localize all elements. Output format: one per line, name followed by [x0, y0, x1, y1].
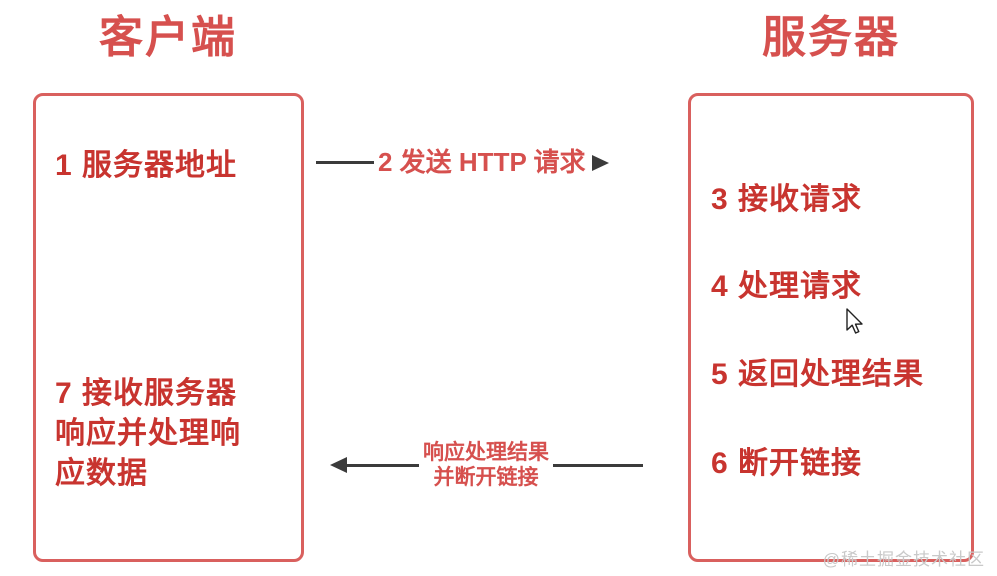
arrow-head-right-icon	[592, 155, 609, 171]
server-column-title: 服务器	[688, 16, 974, 60]
server-step-6: 6 断开链接	[711, 444, 862, 484]
request-arrow-label: 2 发送 HTTP 请求	[374, 148, 590, 178]
request-arrow: 2 发送 HTTP 请求	[316, 148, 688, 178]
request-arrow-line	[316, 161, 374, 164]
server-step-4: 4 处理请求	[711, 267, 862, 307]
server-step-3: 3 接收请求	[711, 180, 862, 220]
response-arrow-line-right	[553, 464, 643, 467]
arrow-head-left-icon	[330, 457, 347, 473]
response-arrow-line-left	[347, 464, 419, 467]
mouse-cursor-icon	[845, 308, 865, 336]
client-box: 1 服务器地址 7 接收服务器 响应并处理响 应数据	[33, 93, 304, 562]
response-arrow: 响应处理结果 并断开链接	[330, 440, 688, 490]
server-box: 3 接收请求 4 处理请求 5 返回处理结果 6 断开链接	[688, 93, 974, 562]
response-arrow-label: 响应处理结果 并断开链接	[419, 440, 553, 490]
client-step-1: 1 服务器地址	[55, 146, 237, 186]
watermark: @稀土掘金技术社区	[823, 545, 985, 570]
client-column-title: 客户端	[33, 16, 303, 60]
diagram-canvas: 客户端 服务器 1 服务器地址 7 接收服务器 响应并处理响 应数据 3 接收请…	[0, 0, 997, 576]
server-step-5: 5 返回处理结果	[711, 355, 924, 395]
client-step-7: 7 接收服务器 响应并处理响 应数据	[55, 374, 241, 494]
